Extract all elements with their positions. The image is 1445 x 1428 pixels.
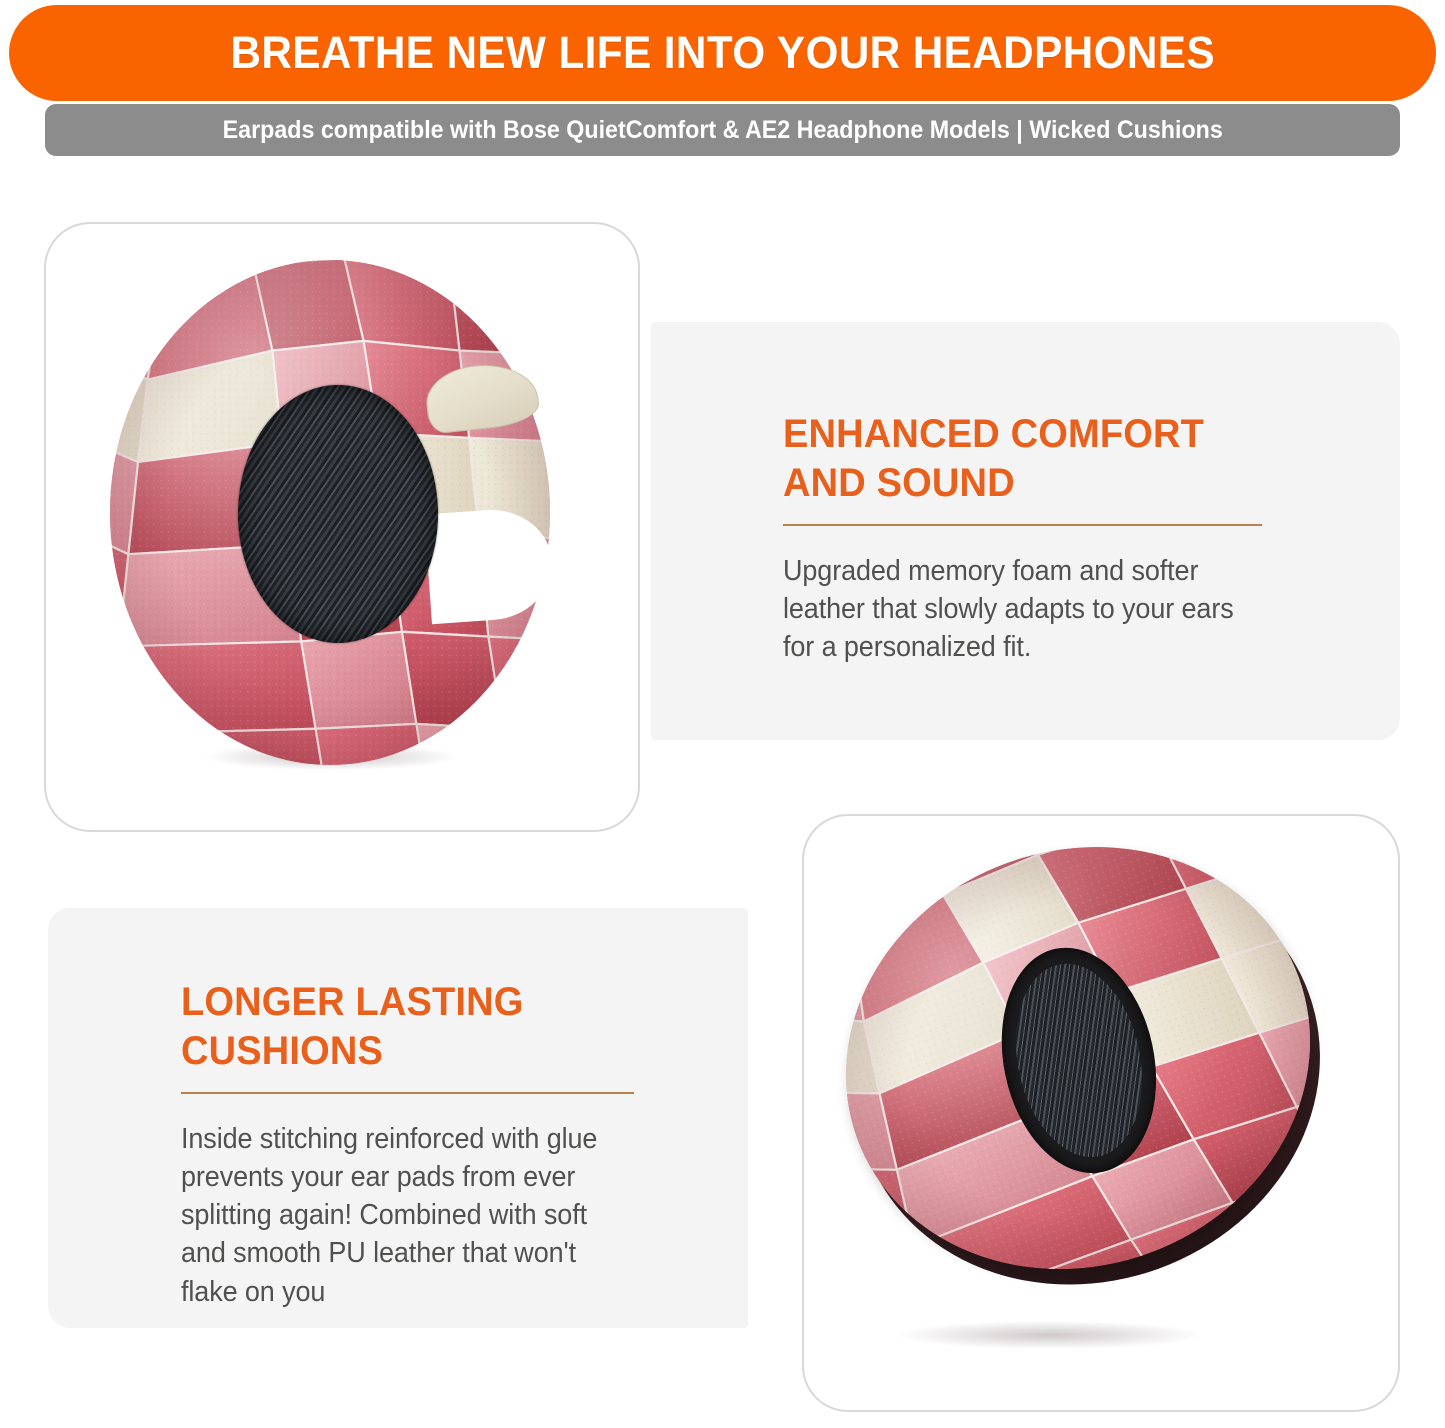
compatibility-text: Earpads compatible with Bose QuietComfor… [222, 116, 1222, 145]
title-divider [783, 524, 1262, 526]
feature-body-comfort: Upgraded memory foam and softer leather … [783, 552, 1248, 667]
earpad-angled-illustration [804, 816, 1398, 1410]
feature-title-cushions: LONGER LASTING CUSHIONS [181, 978, 628, 1076]
feature-panel-comfort: ENHANCED COMFORT AND SOUND Upgraded memo… [651, 322, 1400, 740]
product-image-card-angled [802, 814, 1400, 1412]
product-infographic: BREATHE NEW LIFE INTO YOUR HEADPHONES Ea… [0, 0, 1445, 1428]
product-image-card-front [44, 222, 640, 832]
feature-title-comfort: ENHANCED COMFORT AND SOUND [783, 410, 1258, 508]
speaker-mesh-opening [238, 385, 438, 643]
title-divider [181, 1092, 634, 1094]
feature-body-cushions: Inside stitching reinforced with glue pr… [181, 1120, 618, 1311]
headline-text: BREATHE NEW LIFE INTO YOUR HEADPHONES [230, 27, 1215, 79]
earpad-front-illustration [46, 224, 638, 830]
headline-banner: BREATHE NEW LIFE INTO YOUR HEADPHONES [9, 5, 1436, 101]
compatibility-bar: Earpads compatible with Bose QuietComfor… [45, 104, 1400, 156]
feature-panel-cushions: LONGER LASTING CUSHIONS Inside stitching… [48, 908, 748, 1328]
